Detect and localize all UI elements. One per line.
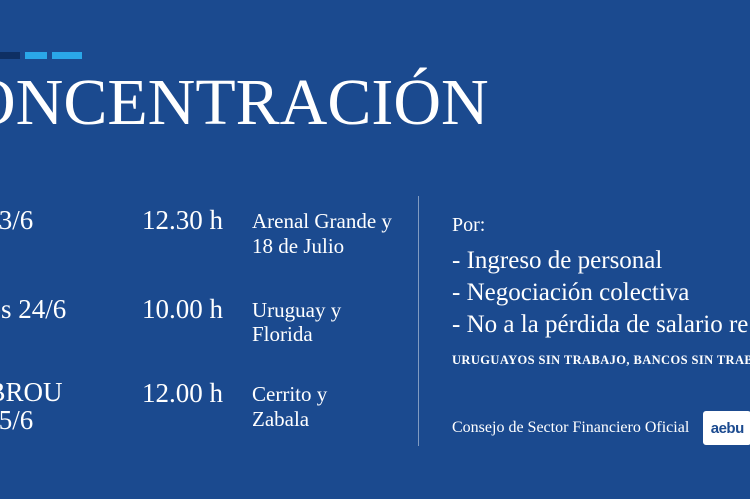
reasons-block: Por: - Ingreso de personal - Negociación… bbox=[452, 214, 750, 341]
schedule-day: YBROU s 25/6 bbox=[0, 379, 142, 434]
aebu-logo: aebu bbox=[703, 411, 750, 445]
accent-bar-cyan-2 bbox=[52, 52, 82, 59]
schedule-list: s 23/6 12.30 h Arenal Grande y 18 de Jul… bbox=[0, 206, 420, 470]
accent-bar-navy bbox=[0, 52, 20, 59]
schedule-row: s 23/6 12.30 h Arenal Grande y 18 de Jul… bbox=[0, 206, 420, 259]
schedule-place-line-2: 18 de Julio bbox=[252, 234, 392, 259]
reason-item: - Ingreso de personal bbox=[452, 245, 750, 277]
schedule-place-line-2: Florida bbox=[252, 322, 341, 347]
schedule-day-label: s 25/6 bbox=[0, 405, 33, 435]
schedule-row: YBROU s 25/6 12.00 h Cerrito y Zabala bbox=[0, 379, 420, 434]
schedule-place: Cerrito y Zabala bbox=[252, 379, 327, 432]
footer-organization: Consejo de Sector Financiero Oficial bbox=[452, 419, 689, 437]
schedule-place-line-1: Cerrito y bbox=[252, 382, 327, 407]
schedule-row: oles 24/6 10.00 h Uruguay y Florida bbox=[0, 295, 420, 348]
schedule-time: 12.00 h bbox=[142, 379, 252, 407]
page-title: ONCENTRACIÓN bbox=[0, 70, 489, 136]
schedule-place-line-1: Arenal Grande y bbox=[252, 209, 392, 234]
schedule-time: 12.30 h bbox=[142, 206, 252, 234]
footer: Consejo de Sector Financiero Oficial aeb… bbox=[452, 411, 750, 445]
reason-item: - Negociación colectiva bbox=[452, 277, 750, 309]
poster-canvas: ONCENTRACIÓN s 23/6 12.30 h Arenal Grand… bbox=[0, 0, 750, 499]
schedule-place-line-2: Zabala bbox=[252, 407, 327, 432]
reasons-label: Por: bbox=[452, 214, 750, 237]
schedule-time: 10.00 h bbox=[142, 295, 252, 323]
accent-bars bbox=[0, 52, 82, 59]
schedule-day: oles 24/6 bbox=[0, 295, 142, 323]
schedule-bank-name: YBROU bbox=[0, 379, 142, 407]
schedule-place: Uruguay y Florida bbox=[252, 295, 341, 348]
slogan-text: URUGUAYOS SIN TRABAJO, BANCOS SIN TRABAJ… bbox=[452, 353, 750, 368]
reason-item: - No a la pérdida de salario re bbox=[452, 309, 750, 341]
accent-bar-cyan-1 bbox=[25, 52, 47, 59]
schedule-place-line-1: Uruguay y bbox=[252, 298, 341, 323]
schedule-place: Arenal Grande y 18 de Julio bbox=[252, 206, 392, 259]
vertical-divider bbox=[418, 196, 419, 446]
schedule-day: s 23/6 bbox=[0, 206, 142, 234]
